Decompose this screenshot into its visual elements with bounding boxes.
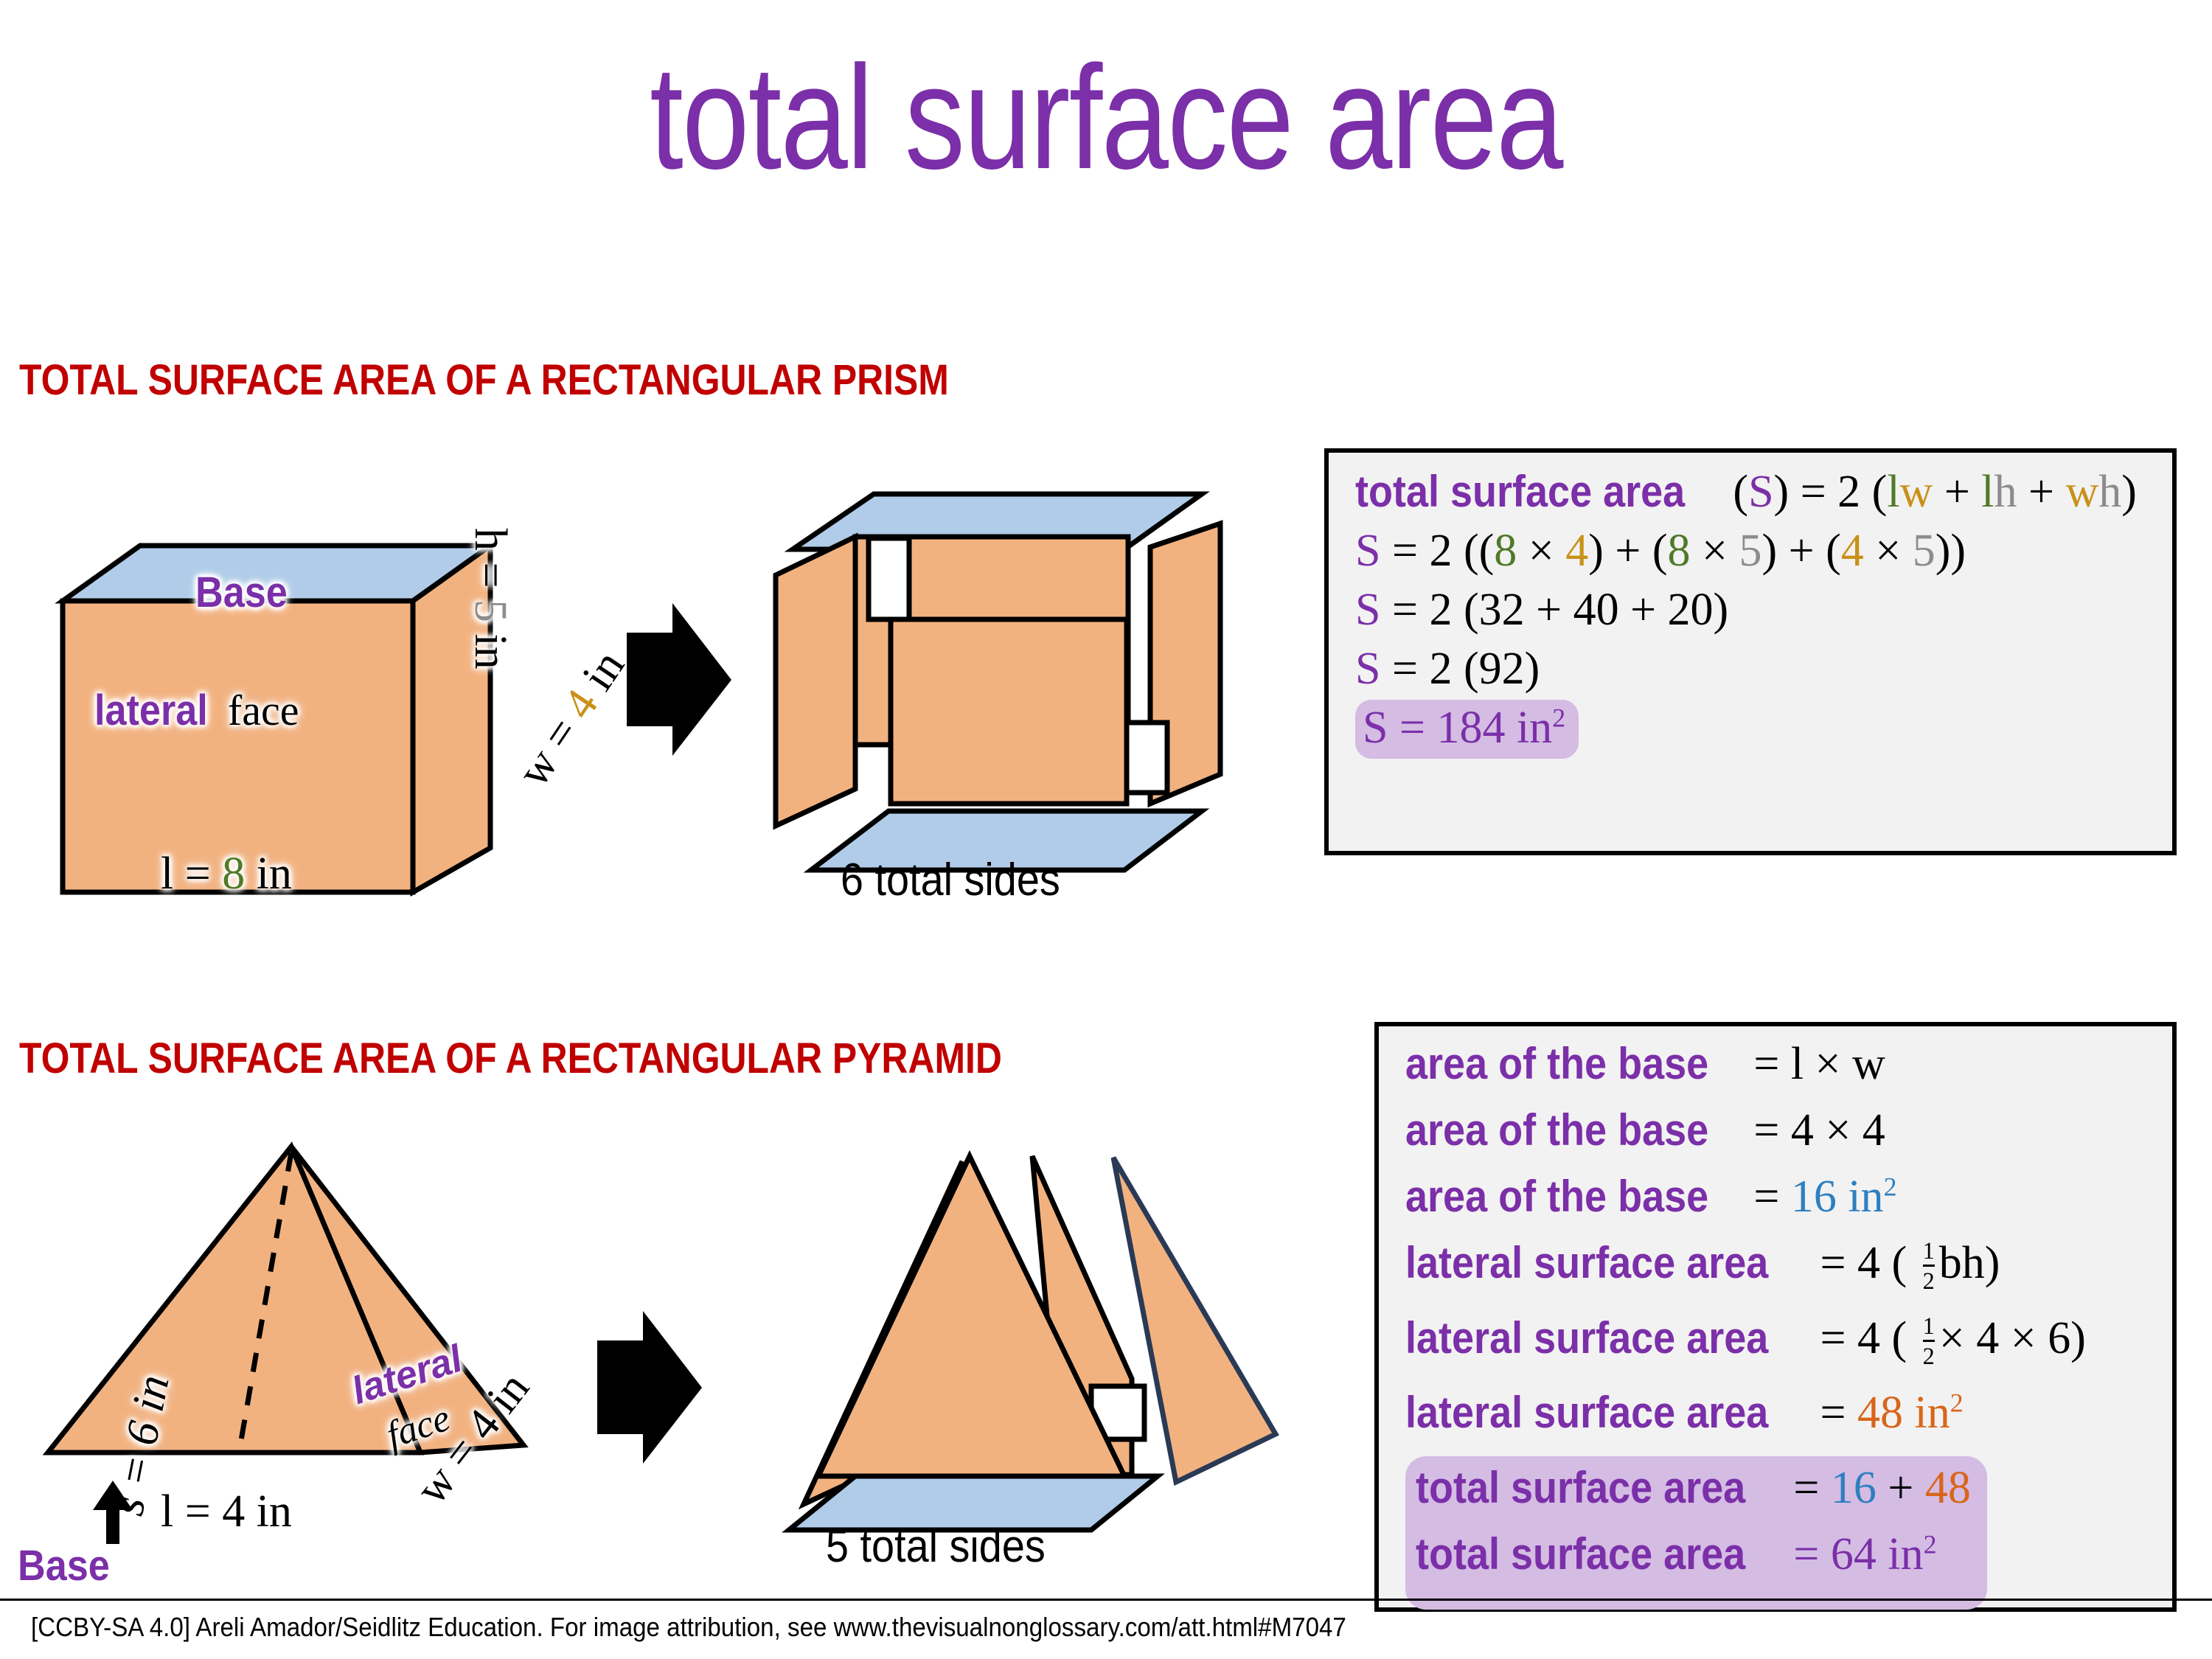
pyramid-length-label: l = 4 in [161,1486,292,1538]
prism-l5-S: S [1363,703,1388,753]
pyramid-total-plus: + [1877,1463,1925,1513]
pyramid-exploded-caption: 5 total sides [826,1520,1046,1573]
pyramid-lat-label-2: lateral surface area [1405,1316,1768,1360]
frac-den-1: 2 [1923,1269,1935,1293]
pyramid-total-result-highlight: total surface area = 16 + 48 total surfa… [1405,1456,1987,1610]
pyramid-total-sup-2: 2 [1924,1529,1937,1559]
prism-l1-b: ) = 2 ( [1774,467,1888,517]
pyramid-length-unit: in [245,1486,292,1537]
prism-l1-close: ) [2121,467,2137,517]
section-heading-prism: TOTAL SURFACE AREA OF A RECTANGULAR PRIS… [19,355,949,405]
prism-exploded-diagram [759,479,1246,907]
frac-bar-1 [1923,1265,1935,1267]
prism-formula-line-1: total surface area (S) = 2 (lw + lh + wh… [1355,469,2172,515]
prism-length-label: l = 8 in [161,848,292,900]
pyramid-lateral-line-2: lateral surface area = 4 ( 12× 4 × 6) [1405,1315,2172,1370]
prism-l1-plus2: + [2017,467,2066,517]
pyramid-base-value-3: 16 in [1791,1172,1884,1222]
pyramid-base-arrow-icon [87,1481,139,1544]
prism-height-label: h = 5 in [464,528,516,669]
footer-divider [0,1599,2212,1601]
prism-formula-line-4: S = 2 (92) [1355,646,2172,692]
pyramid-base-label-2: area of the base [1405,1108,1708,1152]
pyramid-lat-label-1: lateral surface area [1405,1241,1768,1285]
pyramid-total-line-1: total surface area = 16 + 48 [1416,1465,1971,1511]
pyramid-lateral-line-1: lateral surface area = 4 ( 12bh) [1405,1240,2172,1295]
prism-length-unit: in [245,849,292,899]
pyramid-lat-b-2: × 4 × 6) [1939,1313,2086,1363]
prism-formula-line-5-result: S = 184 in2 [1355,705,2172,751]
pyramid-slant-unit: in [121,1371,179,1427]
pyramid-base-line-3: area of the base = 16 in2 [1405,1174,2172,1220]
prism-height-value: 5 [465,599,515,622]
pyramid-base-eq-3: = [1742,1172,1791,1222]
footer-attribution: [CCBY-SA 4.0] Areli Amador/Seidlitz Educ… [31,1612,1346,1643]
prism-l1-S: S [1748,467,1773,517]
prism-height-prefix: h = [465,528,515,599]
pyramid-lat-b-1: bh) [1939,1238,2000,1288]
prism-l5-rest: = 184 in [1388,703,1552,753]
pyramid-lat-eq-3: = [1809,1388,1857,1438]
prism-length-prefix: l = [161,849,222,899]
pyramid-base-line-2: area of the base = 4 × 4 [1405,1107,2172,1153]
frac-num-2: 1 [1923,1314,1935,1338]
prism-l1-w: w [1900,467,1933,517]
page-title: total surface area [199,44,2013,192]
pyramid-total-rest-2: = 64 in [1782,1529,1924,1579]
prism-l1-plus1: + [1933,467,1981,517]
prism-base-label: Base [195,568,288,617]
prism-l1-h: h [1994,467,2017,517]
pyramid-formula-box: area of the base = l × w area of the bas… [1374,1022,2177,1612]
prism-l5-sup: 2 [1552,703,1565,732]
prism-l1-w2: w [2066,467,2099,517]
pyramid-arrow-icon [590,1305,708,1475]
pyramid-length-value: 4 [222,1486,245,1537]
pyramid-base-line-1: area of the base = l × w [1405,1041,2172,1087]
fraction-one-half-1: 12 [1923,1239,1935,1293]
prism-formula-line-3: S = 2 (32 + 40 + 20) [1355,587,2172,633]
pyramid-total-line-2: total surface area = 64 in2 [1416,1531,1971,1577]
pyramid-total-label-1: total surface area [1416,1466,1745,1510]
pyramid-base-label: Base [18,1541,110,1590]
prism-face-word: face [228,686,299,734]
prism-l1-l2: l [1981,467,1994,517]
prism-formula-box: total surface area (S) = 2 (lw + lh + wh… [1324,448,2177,855]
pyramid-base-label-1: area of the base [1405,1042,1708,1086]
fraction-one-half-2: 12 [1923,1314,1935,1368]
pyramid-total-label-2: total surface area [1416,1532,1745,1576]
prism-height-unit: in [465,622,515,669]
prism-lateral-word: lateral [94,686,208,735]
pyramid-base-rest-2: = 4 × 4 [1742,1105,1885,1155]
pyramid-exploded-diagram [715,1143,1290,1556]
prism-length-value: 8 [222,849,245,899]
pyramid-base-sup-3: 2 [1884,1172,1897,1201]
pyramid-total-a: 16 [1831,1463,1877,1513]
prism-arrow-icon [619,597,737,767]
pyramid-lat-value-3: 48 in [1857,1388,1950,1438]
prism-exploded-caption: 6 total sides [841,854,1060,906]
pyramid-base-label-3: area of the base [1405,1175,1708,1219]
prism-l1-l: l [1887,467,1899,517]
pyramid-length-prefix: l = [161,1486,222,1537]
pyramid-base-rest-1: = l × w [1742,1039,1885,1089]
section-heading-pyramid: TOTAL SURFACE AREA OF A RECTANGULAR PYRA… [19,1034,1002,1083]
prism-l1-h2: h [2098,467,2121,517]
pyramid-lat-label-3: lateral surface area [1405,1391,1768,1435]
frac-num-1: 1 [1923,1239,1935,1262]
prism-lateral-face-label: lateralface [94,686,299,735]
prism-tsa-label: total surface area [1355,470,1685,514]
pyramid-total-b: 48 [1925,1463,1971,1513]
frac-bar-2 [1923,1340,1935,1342]
pyramid-lat-a-1: = 4 ( [1809,1238,1919,1288]
pyramid-lateral-line-3: lateral surface area = 48 in2 [1405,1390,2172,1436]
frac-den-2: 2 [1923,1344,1935,1368]
prism-formula-line-2: S = 2 ((8 × 4) + (8 × 5) + (4 × 5)) [1355,528,2172,574]
prism-l1-a: ( [1722,467,1748,517]
pyramid-total-eq-1: = [1782,1463,1831,1513]
pyramid-lat-a-2: = 4 ( [1809,1313,1919,1363]
pyramid-lat-sup-3: 2 [1950,1388,1964,1417]
